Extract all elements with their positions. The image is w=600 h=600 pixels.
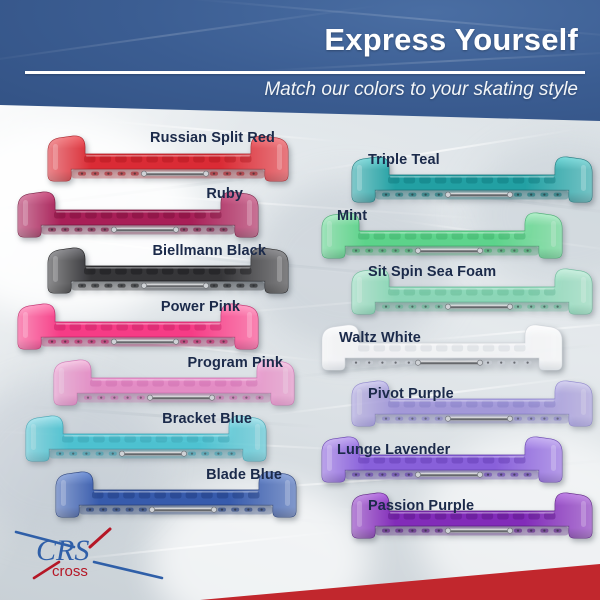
page-subtitle: Match our colors to your skating style [264, 79, 578, 101]
tension-rod [111, 339, 178, 344]
product-color-label: Biellmann Black [152, 243, 266, 259]
tension-rod [415, 360, 482, 365]
product-color-label: Sit Spin Sea Foam [368, 264, 496, 280]
tension-rod [149, 507, 216, 512]
product-color-label: Bracket Blue [162, 411, 252, 427]
tension-rod [415, 248, 482, 253]
product-color-label: Waltz White [339, 330, 421, 346]
product-color-label: Pivot Purple [368, 386, 454, 402]
product-color-label: Lunge Lavender [337, 442, 450, 458]
product-color-label: Russian Split Red [150, 130, 275, 146]
crs-cross-logo[interactable]: CRS cross [14, 516, 164, 586]
product-color-label: Program Pink [188, 355, 283, 371]
logo-cross-text: cross [52, 563, 88, 580]
tension-rod [141, 171, 208, 176]
product-color-label: Mint [337, 208, 367, 224]
tension-rod [111, 227, 178, 232]
page-title: Express Yourself [324, 22, 578, 58]
tension-rod [119, 451, 186, 456]
product-color-label: Blade Blue [206, 467, 282, 483]
tension-rod [445, 528, 512, 533]
tension-rod [141, 283, 208, 288]
tension-rod [445, 416, 512, 421]
poster-canvas: Russian Split Red [0, 0, 600, 600]
product-color-label: Passion Purple [368, 498, 474, 514]
tension-rod [415, 472, 482, 477]
header-divider [25, 71, 585, 74]
product-color-label: Ruby [206, 186, 243, 202]
product-color-label: Triple Teal [368, 152, 440, 168]
poster-header: Express Yourself Match our colors to you… [0, 0, 600, 126]
tension-rod [445, 192, 512, 197]
product-color-label: Power Pink [161, 299, 240, 315]
tension-rod [147, 395, 214, 400]
tension-rod [445, 304, 512, 309]
